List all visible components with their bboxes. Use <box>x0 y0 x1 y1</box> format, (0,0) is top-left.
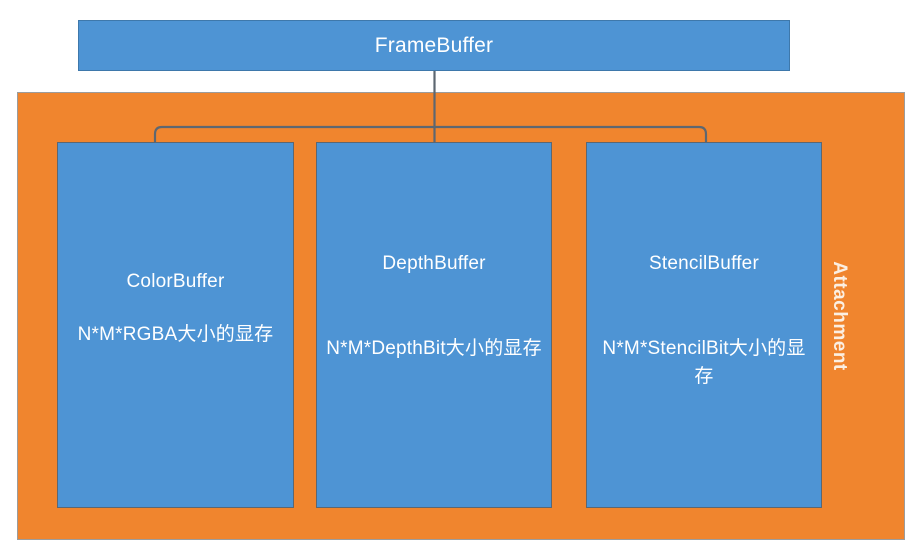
depthbuffer-title: DepthBuffer <box>317 253 551 275</box>
colorbuffer-description: N*M*RGBA大小的显存 <box>66 321 285 349</box>
framebuffer-label: FrameBuffer <box>375 34 494 58</box>
buffer-node-stencilbuffer: StencilBuffer N*M*StencilBit大小的显存 <box>586 142 822 508</box>
attachment-label: Attachment <box>828 261 850 371</box>
depthbuffer-description: N*M*DepthBit大小的显存 <box>325 335 543 363</box>
colorbuffer-title: ColorBuffer <box>58 271 293 293</box>
buffer-node-depthbuffer: DepthBuffer N*M*DepthBit大小的显存 <box>316 142 552 508</box>
stencilbuffer-title: StencilBuffer <box>587 253 821 275</box>
framebuffer-node: FrameBuffer <box>78 20 790 71</box>
buffer-node-colorbuffer: ColorBuffer N*M*RGBA大小的显存 <box>57 142 294 508</box>
stencilbuffer-description: N*M*StencilBit大小的显存 <box>595 335 813 390</box>
diagram-canvas: FrameBuffer Attachment ColorBuffer N*M*R… <box>0 0 921 546</box>
